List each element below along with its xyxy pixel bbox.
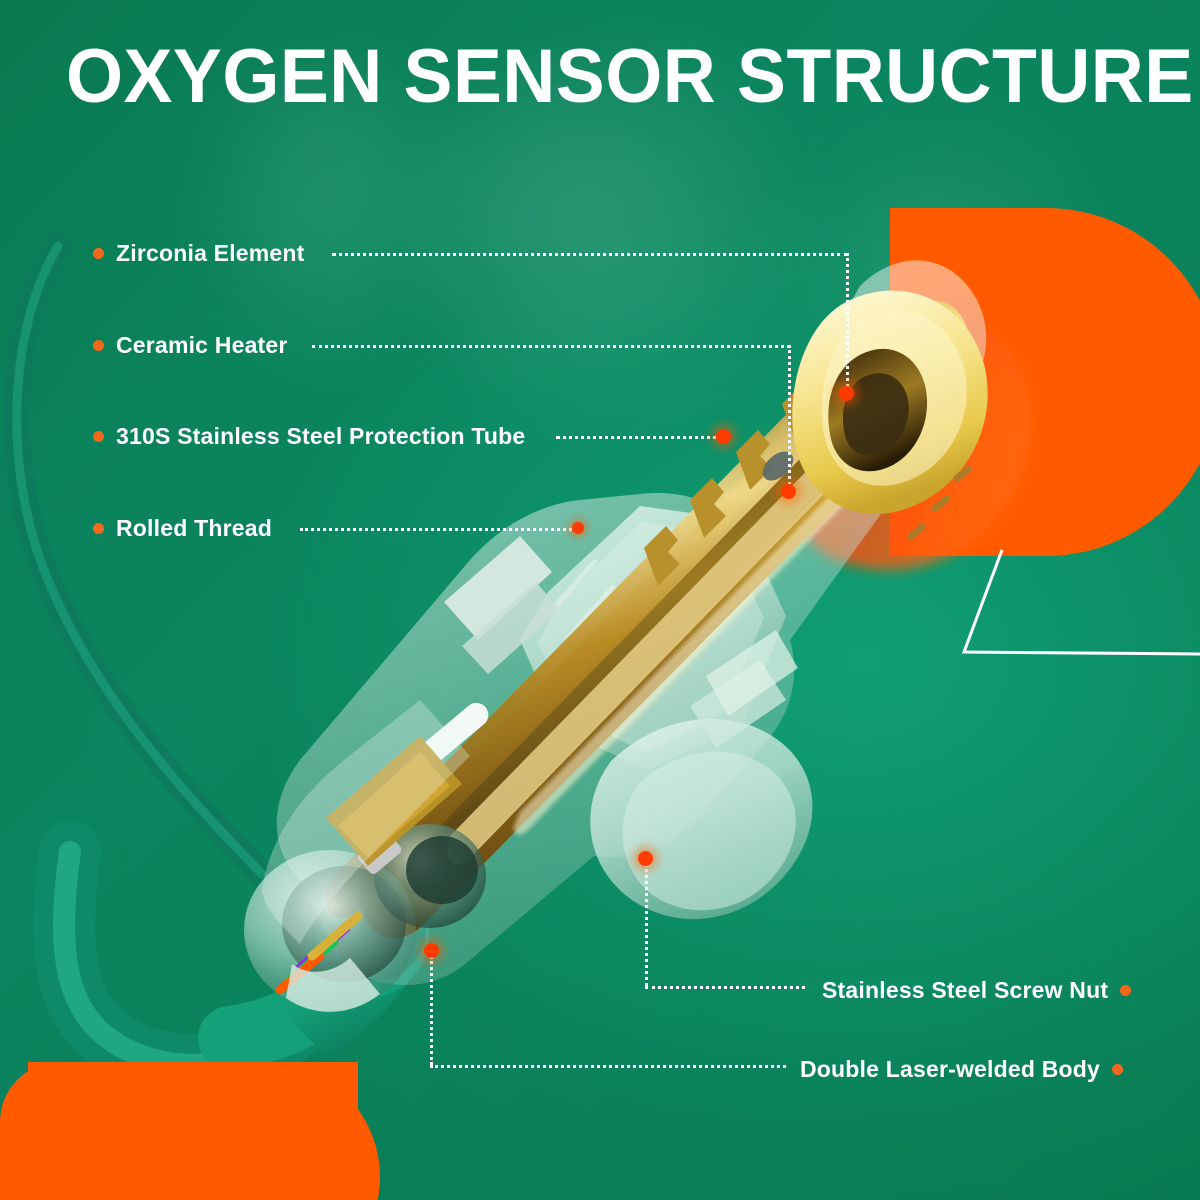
oxygen-sensor-illustration — [0, 0, 1200, 1200]
bullet-dot-icon — [93, 248, 104, 259]
bullet-dot-icon — [93, 523, 104, 534]
callout-node-icon — [716, 429, 731, 444]
white-corner-accent — [962, 548, 1200, 660]
label-text: Zirconia Element — [116, 240, 305, 267]
label-ceramic-heater[interactable]: Ceramic Heater — [93, 332, 288, 359]
label-text: Rolled Thread — [116, 515, 272, 542]
label-text: 310S Stainless Steel Protection Tube — [116, 423, 525, 450]
callout-node-icon — [781, 484, 796, 499]
callout-node-icon — [572, 522, 584, 534]
label-welded-body[interactable]: Double Laser-welded Body — [800, 1056, 1123, 1083]
bullet-dot-icon — [1120, 985, 1131, 996]
label-rolled-thread[interactable]: Rolled Thread — [93, 515, 272, 542]
label-text: Double Laser-welded Body — [800, 1056, 1100, 1083]
orange-shape-right — [890, 208, 1200, 556]
page-title: OXYGEN SENSOR STRUCTURE — [66, 34, 1118, 120]
bullet-dot-icon — [93, 340, 104, 351]
callout-node-icon — [839, 386, 854, 401]
label-screw-nut[interactable]: Stainless Steel Screw Nut — [822, 977, 1131, 1004]
label-zirconia-element[interactable]: Zirconia Element — [93, 240, 305, 267]
label-protection-tube[interactable]: 310S Stainless Steel Protection Tube — [93, 423, 525, 450]
bullet-dot-icon — [1112, 1064, 1123, 1075]
bullet-dot-icon — [93, 431, 104, 442]
callout-node-icon — [424, 943, 439, 958]
callout-node-icon — [638, 851, 653, 866]
label-text: Ceramic Heater — [116, 332, 288, 359]
label-text: Stainless Steel Screw Nut — [822, 977, 1108, 1004]
oxygen-sensor-infographic: OXYGEN SENSOR STRUCTURE Zirconia Element — [0, 0, 1200, 1200]
